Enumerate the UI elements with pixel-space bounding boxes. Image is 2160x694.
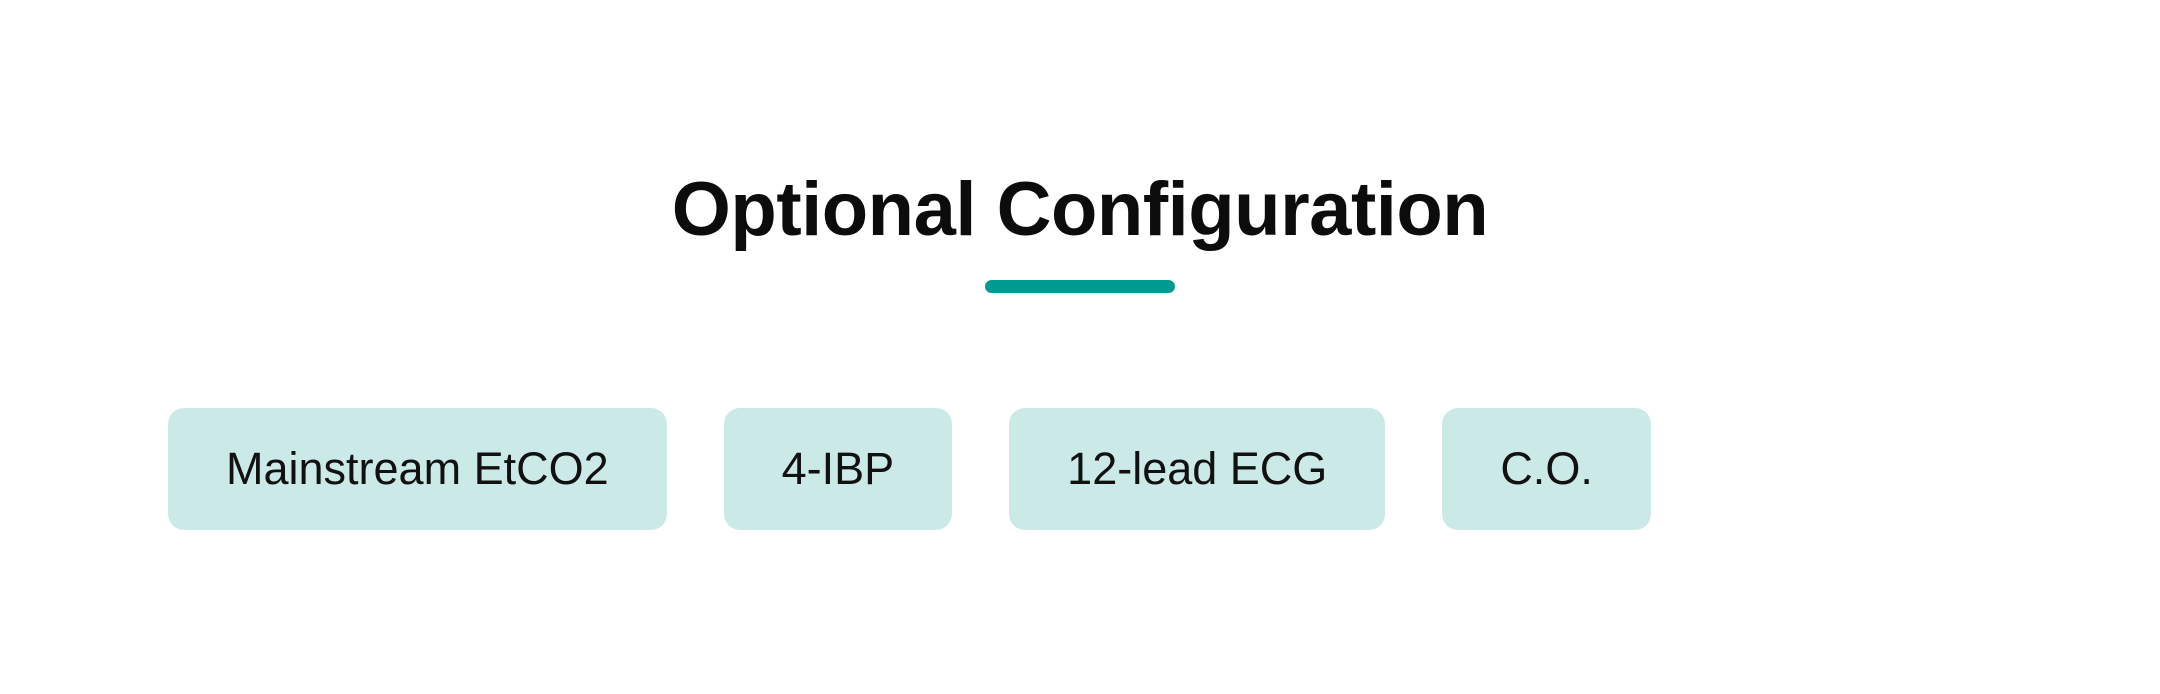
option-chip-co[interactable]: C.O. (1442, 408, 1651, 530)
option-chip-12-lead-ecg[interactable]: 12-lead ECG (1009, 408, 1385, 530)
section-heading-block: Optional Configuration (0, 168, 2160, 293)
option-chip-label: 4-IBP (782, 443, 895, 495)
option-chip-4-ibp[interactable]: 4-IBP (724, 408, 953, 530)
title-accent-underline (985, 280, 1175, 293)
option-chip-mainstream-etco2[interactable]: Mainstream EtCO2 (168, 408, 667, 530)
page-title: Optional Configuration (0, 168, 2160, 252)
optional-configuration-section: Optional Configuration Mainstream EtCO2 … (0, 0, 2160, 694)
optional-configuration-list: Mainstream EtCO2 4-IBP 12-lead ECG C.O. (168, 408, 1651, 530)
option-chip-label: 12-lead ECG (1067, 443, 1327, 495)
option-chip-label: Mainstream EtCO2 (226, 443, 609, 495)
option-chip-label: C.O. (1500, 443, 1593, 495)
